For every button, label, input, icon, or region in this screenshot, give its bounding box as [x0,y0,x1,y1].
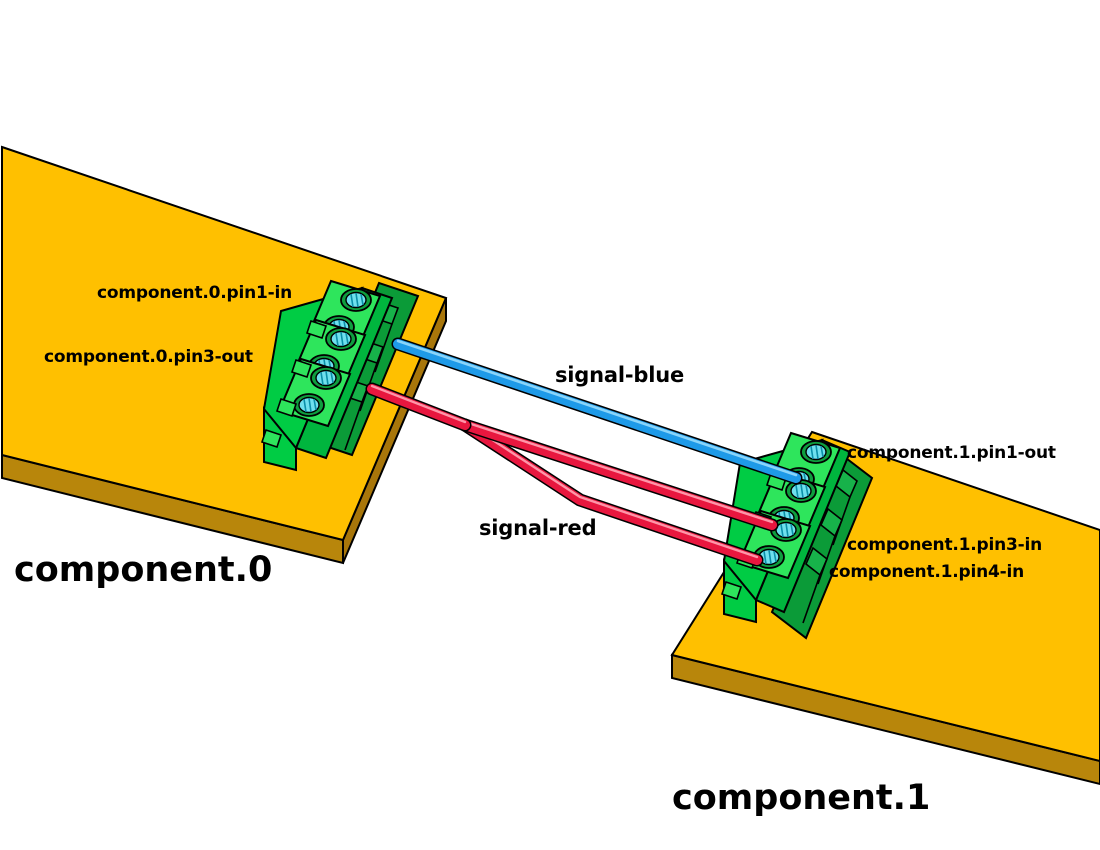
pin-label-component-1-pin3-in: component.1.pin3-in [847,537,1042,554]
pin-label-component-0-pin1-in: component.0.pin1-in [97,285,292,302]
board-label-component-1: component.1 [672,781,930,816]
pin-label-component-1-pin4-in: component.1.pin4-in [829,564,1024,581]
diagram-canvas: component.0.pin1-in component.0.pin3-out… [0,0,1100,850]
wire-signal-blue[interactable] [398,341,796,478]
pin-label-component-1-pin1-out: component.1.pin1-out [847,445,1056,462]
board-label-component-0: component.0 [14,553,272,588]
signal-label-red: signal-red [479,518,596,539]
pin-label-component-0-pin3-out: component.0.pin3-out [44,349,253,366]
wiring-scene [0,0,1100,850]
signal-label-blue: signal-blue [555,365,684,386]
wire-signal-blue-highlight [398,341,796,475]
